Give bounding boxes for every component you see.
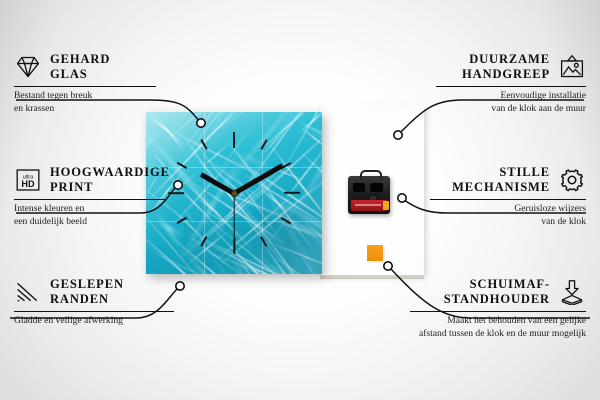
endpoint-duurzame-handgreep bbox=[394, 131, 402, 139]
feature-subtitle: Geruisloze wijzers van de klok bbox=[400, 203, 586, 229]
feature-title: STILLE MECHANISME bbox=[452, 165, 550, 195]
svg-text:HD: HD bbox=[21, 179, 35, 189]
press-down-pad-icon bbox=[558, 279, 586, 305]
feature-schuimafstandhouder[interactable]: SCHUIMAF- STANDHOUDER Maakt het behouden… bbox=[394, 277, 586, 341]
feature-rule bbox=[14, 311, 174, 313]
feature-duurzame-handgreep[interactable]: DUURZAME HANDGREEP Eenvoudige installati… bbox=[410, 52, 586, 116]
feature-rule bbox=[14, 86, 156, 88]
endpoint-gehard-glas bbox=[197, 119, 205, 127]
feature-rule bbox=[410, 311, 586, 313]
gear-icon bbox=[558, 167, 586, 193]
feature-subtitle: Maakt het behouden van een gelijke afsta… bbox=[394, 315, 586, 341]
feature-gehard-glas[interactable]: GEHARD GLAS Bestand tegen breuk en krass… bbox=[14, 52, 190, 116]
feature-title: GEHARD GLAS bbox=[50, 52, 110, 82]
feature-title: DUURZAME HANDGREEP bbox=[462, 52, 550, 82]
endpoint-schuimafstandhouder bbox=[384, 262, 392, 270]
ultra-hd-icon: ultra HD bbox=[14, 167, 42, 193]
feature-subtitle: Intense kleuren en een duidelijk beeld bbox=[14, 203, 200, 229]
feature-subtitle: Gladde en veilige afwerking bbox=[14, 315, 200, 328]
feature-geslepen-randen[interactable]: GESLEPEN RANDEN Gladde en veilige afwerk… bbox=[14, 277, 200, 328]
feature-rule bbox=[430, 199, 586, 201]
picture-frame-icon bbox=[558, 54, 586, 80]
diagonal-lines-icon bbox=[14, 279, 42, 305]
feature-stille-mechanisme[interactable]: STILLE MECHANISME Geruisloze wijzers van… bbox=[400, 165, 586, 229]
feature-title: HOOGWAARDIGE PRINT bbox=[50, 165, 170, 195]
feature-rule bbox=[436, 86, 586, 88]
diamond-icon bbox=[14, 54, 42, 80]
feature-subtitle: Bestand tegen breuk en krassen bbox=[14, 90, 190, 116]
infographic-canvas: GEHARD GLAS Bestand tegen breuk en krass… bbox=[0, 0, 600, 400]
feature-title: GESLEPEN RANDEN bbox=[50, 277, 124, 307]
feature-title: SCHUIMAF- STANDHOUDER bbox=[444, 277, 550, 307]
feature-subtitle: Eenvoudige installatie van de klok aan d… bbox=[410, 90, 586, 116]
feature-hoogwaardige-print[interactable]: ultra HD HOOGWAARDIGE PRINT Intense kleu… bbox=[14, 165, 200, 229]
feature-rule bbox=[14, 199, 166, 201]
